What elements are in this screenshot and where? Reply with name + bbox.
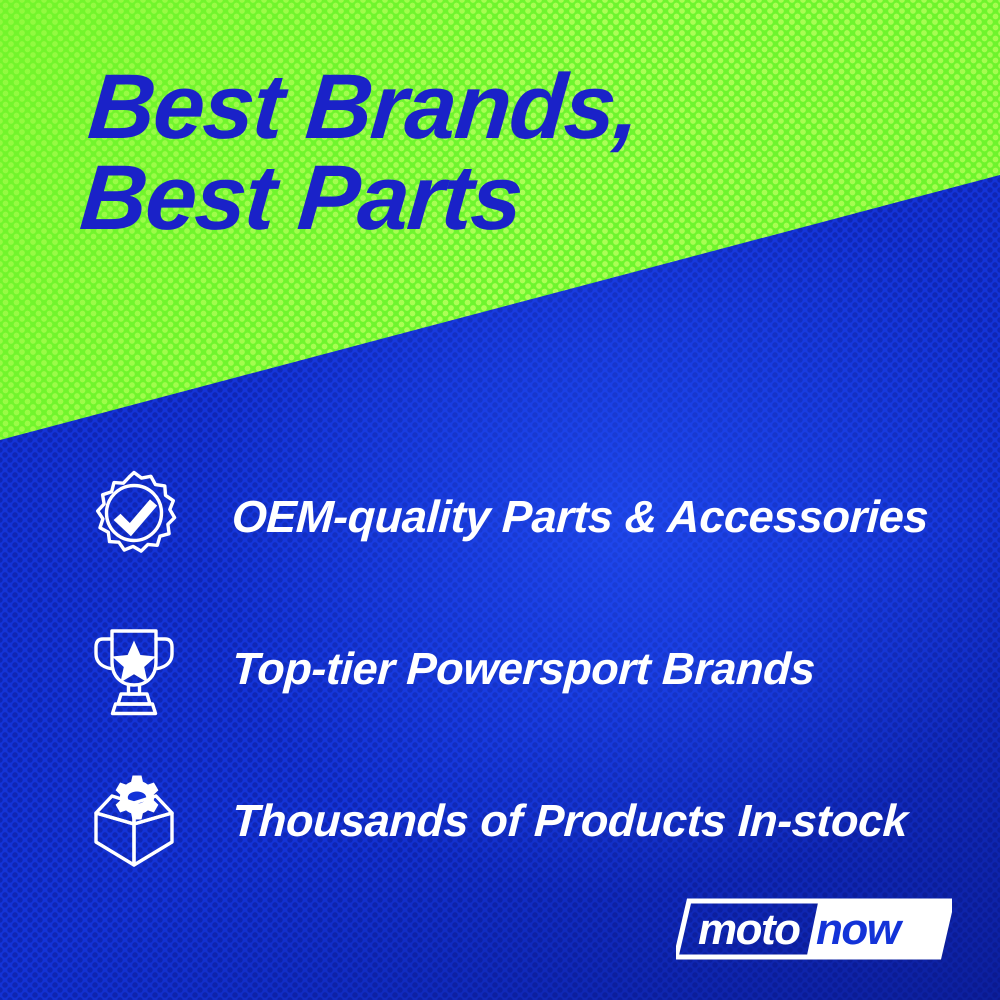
list-item-label: Thousands of Products In-stock: [231, 798, 909, 843]
badge-check-icon: [84, 466, 184, 566]
list-item: Thousands of Products In-stock: [0, 744, 1000, 896]
logo-word-primary: moto: [698, 905, 800, 954]
list-item-label: OEM-quality Parts & Accessories: [231, 494, 930, 539]
trophy-icon: [84, 618, 184, 718]
logo-word-secondary: now: [816, 905, 904, 954]
list-item-label: Top-tier Powersport Brands: [231, 646, 816, 691]
page-title: Best Brands, Best Parts: [77, 62, 853, 244]
box-gear-icon: [84, 770, 184, 870]
motonow-logo[interactable]: moto now: [676, 898, 952, 960]
feature-list: OEM-quality Parts & Accessories: [0, 440, 1000, 896]
promo-banner: Best Brands, Best Parts OEM-quality Part…: [0, 0, 1000, 1000]
list-item: Top-tier Powersport Brands: [0, 592, 1000, 744]
list-item: OEM-quality Parts & Accessories: [0, 440, 1000, 592]
